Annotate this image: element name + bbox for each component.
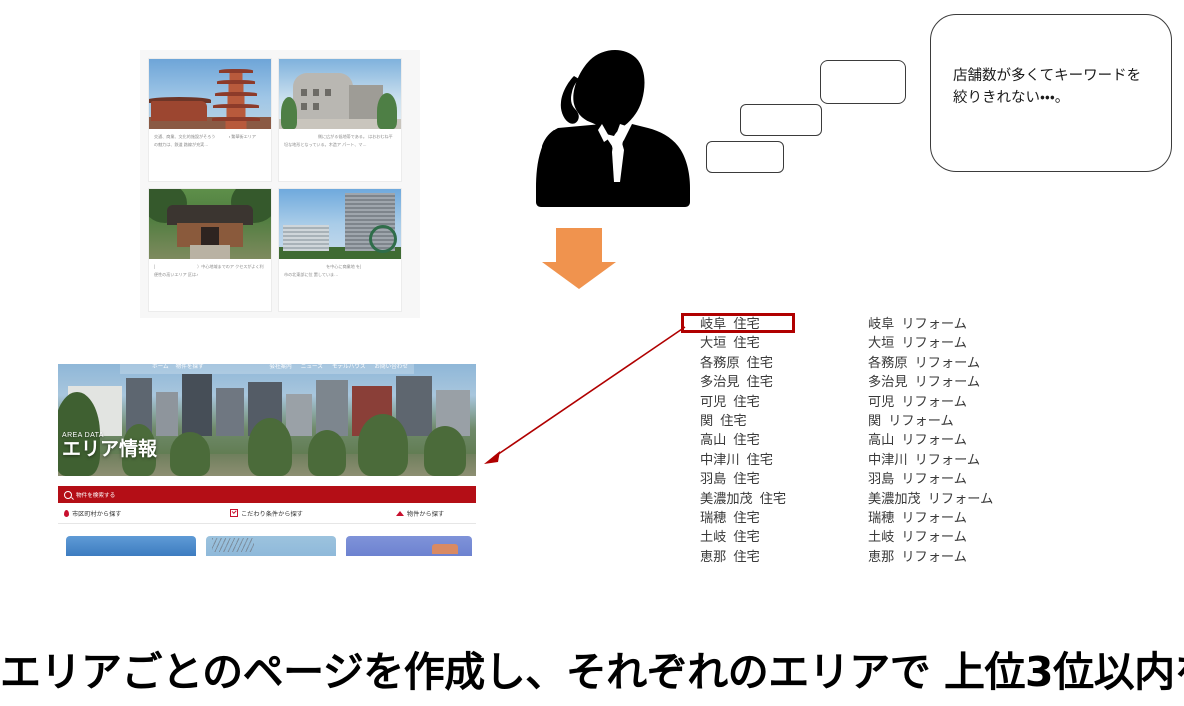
worried-businessman-silhouette xyxy=(528,42,698,208)
hero-eyebrow: AREA DATA xyxy=(62,432,157,439)
keyword-term: リフォーム xyxy=(901,394,967,409)
keyword-area: 岐阜 xyxy=(868,316,894,331)
article-card-body: 交通、商業、文化的施設がそろう ・ 繁華街エリア の魅力は、鉄道 路線が充実… xyxy=(149,129,271,148)
keyword-item: 多治見住宅 xyxy=(700,372,850,391)
keyword-item: 恵那住宅 xyxy=(700,547,850,566)
website-mockup[interactable]: AREA DATA エリア情報 ホーム 物件を探す 会社案内 ニュース モデルハ… xyxy=(58,358,476,556)
keyword-term: 住宅 xyxy=(720,413,746,428)
article-card[interactable]: | ）中心地域までのア クセスがよく利便性の高いエリア 区は♪ xyxy=(148,188,272,312)
thought-trail-bubble-small xyxy=(706,141,784,173)
keyword-item: 羽島住宅 xyxy=(700,469,850,488)
keyword-item: 高山住宅 xyxy=(700,430,850,449)
article-card-body: を中心に商業地 を| 市の北東部に位 置していま… xyxy=(279,259,401,278)
article-card[interactable]: 交通、商業、文化的施設がそろう ・ 繁華街エリア の魅力は、鉄道 路線が充実… xyxy=(148,58,272,182)
nav-item-contact[interactable]: お問い合わせ xyxy=(374,362,408,370)
filter-municipality[interactable]: 市区町村から探す xyxy=(64,509,122,518)
keyword-column-right: 岐阜リフォーム大垣リフォーム各務原リフォーム多治見リフォーム可児リフォーム関リフ… xyxy=(868,314,1038,566)
keyword-item: 関住宅 xyxy=(700,411,850,430)
keyword-area: 関 xyxy=(868,413,881,428)
keyword-term: リフォーム xyxy=(915,355,981,370)
keyword-area: 中津川 xyxy=(700,452,740,467)
keyword-term: 住宅 xyxy=(733,510,759,525)
site-navbar: ホーム 物件を探す 会社案内 ニュース モデルハウス お問い合わせ xyxy=(120,358,414,374)
keyword-term: 住宅 xyxy=(733,394,759,409)
keyword-area: 中津川 xyxy=(868,452,908,467)
filter-property[interactable]: 物件から探す xyxy=(396,509,444,518)
red-connector-arrow xyxy=(470,305,710,480)
filter-label: こだわり条件から探す xyxy=(241,509,303,518)
nav-item-news[interactable]: ニュース xyxy=(301,362,323,370)
mock-content-card[interactable] xyxy=(206,536,336,556)
article-card-body: | ）中心地域までのア クセスがよく利便性の高いエリア 区は♪ xyxy=(149,259,271,278)
article-card-text: を中心に商業地 を| 市の北東部に位 置していま… xyxy=(284,263,396,278)
keyword-area: 羽島 xyxy=(700,471,726,486)
keyword-item: 羽島リフォーム xyxy=(868,469,1038,488)
keyword-item: 瑞穂住宅 xyxy=(700,508,850,527)
article-card-text: 交通、商業、文化的施設がそろう ・ 繁華街エリア の魅力は、鉄道 路線が充実… xyxy=(154,133,266,148)
search-band[interactable]: 物件を検索する xyxy=(58,486,476,503)
keyword-item: 多治見リフォーム xyxy=(868,372,1038,391)
keyword-area: 土岐 xyxy=(700,529,726,544)
article-card-grid: 交通、商業、文化的施設がそろう ・ 繁華街エリア の魅力は、鉄道 路線が充実… … xyxy=(140,50,420,318)
hero-label: AREA DATA エリア情報 xyxy=(62,432,157,461)
keyword-term: リフォーム xyxy=(901,316,967,331)
keyword-item: 可児リフォーム xyxy=(868,392,1038,411)
keyword-item: 美濃加茂住宅 xyxy=(700,489,850,508)
keyword-term: 住宅 xyxy=(747,452,773,467)
keyword-item: 高山リフォーム xyxy=(868,430,1038,449)
keyword-area: 恵那 xyxy=(868,549,894,564)
tower-photo xyxy=(279,189,401,259)
nav-item-company[interactable]: 会社案内 xyxy=(269,362,291,370)
nav-item-modelhouse[interactable]: モデルハウス xyxy=(332,362,366,370)
keyword-highlight-box xyxy=(681,313,795,333)
search-band-label: 物件を検索する xyxy=(76,491,115,499)
article-card-text: 側に広がる低地帯である。 はおおむね平坦な地形となっている。木造ア パート、マ… xyxy=(284,133,396,148)
keyword-area: 可児 xyxy=(700,394,726,409)
article-card-text: | ）中心地域までのア クセスがよく利便性の高いエリア 区は♪ xyxy=(154,263,266,278)
nav-item-search[interactable]: 物件を探す xyxy=(176,362,204,370)
modern-building-photo xyxy=(279,59,401,129)
article-card[interactable]: 側に広がる低地帯である。 はおおむね平坦な地形となっている。木造ア パート、マ… xyxy=(278,58,402,182)
keyword-item: 瑞穂リフォーム xyxy=(868,508,1038,527)
keyword-area: 恵那 xyxy=(700,549,726,564)
keyword-area: 大垣 xyxy=(868,335,894,350)
thought-trail-bubble-medium xyxy=(740,104,822,136)
keyword-term: リフォーム xyxy=(915,452,981,467)
filter-label: 物件から探す xyxy=(407,509,444,518)
home-icon xyxy=(396,511,404,516)
keyword-term: リフォーム xyxy=(901,529,967,544)
page-headline: エリアごとのページを作成し、それぞれのエリアで 上位3位以内をキープ xyxy=(0,638,1184,698)
keyword-area: 瑞穂 xyxy=(868,510,894,525)
keyword-item: 各務原住宅 xyxy=(700,353,850,372)
check-square-icon xyxy=(230,509,238,517)
keyword-item: 各務原リフォーム xyxy=(868,353,1038,372)
keyword-area: 羽島 xyxy=(868,471,894,486)
keyword-item: 関リフォーム xyxy=(868,411,1038,430)
keyword-term: リフォーム xyxy=(928,491,994,506)
thought-trail-bubble-large xyxy=(820,60,906,104)
keyword-area: 美濃加茂 xyxy=(868,491,921,506)
keyword-area: 各務原 xyxy=(868,355,908,370)
keyword-area: 瑞穂 xyxy=(700,510,726,525)
keyword-term: 住宅 xyxy=(733,335,759,350)
article-card-body: 側に広がる低地帯である。 はおおむね平坦な地形となっている。木造ア パート、マ… xyxy=(279,129,401,148)
pagoda-photo xyxy=(149,59,271,129)
article-card[interactable]: を中心に商業地 を| 市の北東部に位 置していま… xyxy=(278,188,402,312)
keyword-item: 大垣住宅 xyxy=(700,333,850,352)
keyword-column-left: 岐阜住宅大垣住宅各務原住宅多治見住宅可児住宅関住宅高山住宅中津川住宅羽島住宅美濃… xyxy=(700,314,850,566)
keyword-term: リフォーム xyxy=(901,510,967,525)
keyword-area: 土岐 xyxy=(868,529,894,544)
shrine-photo xyxy=(149,189,271,259)
keyword-item: 美濃加茂リフォーム xyxy=(868,489,1038,508)
keyword-item: 岐阜リフォーム xyxy=(868,314,1038,333)
keyword-term: 住宅 xyxy=(760,491,786,506)
nav-item-home[interactable]: ホーム xyxy=(152,362,169,370)
map-pin-icon xyxy=(64,510,69,517)
speech-bubble-text: 店舗数が多くてキーワードを 絞りきれない・・・。 xyxy=(953,65,1157,110)
keyword-area: 高山 xyxy=(700,432,726,447)
keyword-term: 住宅 xyxy=(747,355,773,370)
keyword-term: リフォーム xyxy=(901,549,967,564)
keyword-area: 大垣 xyxy=(700,335,726,350)
keyword-term: リフォーム xyxy=(901,471,967,486)
navbar-right-group: 会社案内 ニュース モデルハウス お問い合わせ xyxy=(269,362,408,370)
hero-banner: AREA DATA エリア情報 xyxy=(58,364,476,476)
keyword-term: 住宅 xyxy=(733,549,759,564)
keyword-item: 大垣リフォーム xyxy=(868,333,1038,352)
filter-row: 市区町村から探す こだわり条件から探す 物件から探す xyxy=(58,503,476,524)
speech-bubble: 店舗数が多くてキーワードを 絞りきれない・・・。 xyxy=(930,14,1172,172)
keyword-term: 住宅 xyxy=(733,471,759,486)
keyword-area: 各務原 xyxy=(700,355,740,370)
keyword-term: リフォーム xyxy=(888,413,954,428)
filter-label: 市区町村から探す xyxy=(72,509,122,518)
keyword-item: 中津川リフォーム xyxy=(868,450,1038,469)
keyword-term: リフォーム xyxy=(901,335,967,350)
keyword-term: リフォーム xyxy=(915,374,981,389)
keyword-term: リフォーム xyxy=(901,432,967,447)
search-icon xyxy=(64,491,72,499)
hero-title: エリア情報 xyxy=(62,439,157,461)
keyword-area: 関 xyxy=(700,413,713,428)
keyword-item: 土岐住宅 xyxy=(700,527,850,546)
keyword-item: 中津川住宅 xyxy=(700,450,850,469)
keyword-item: 恵那リフォーム xyxy=(868,547,1038,566)
mock-content-card[interactable] xyxy=(66,536,196,556)
keyword-area: 多治見 xyxy=(700,374,740,389)
keyword-area: 高山 xyxy=(868,432,894,447)
navbar-left-group: ホーム 物件を探す xyxy=(152,362,204,370)
keyword-item: 土岐リフォーム xyxy=(868,527,1038,546)
keyword-item: 可児住宅 xyxy=(700,392,850,411)
keyword-area: 可児 xyxy=(868,394,894,409)
keyword-term: 住宅 xyxy=(747,374,773,389)
filter-conditions[interactable]: こだわり条件から探す xyxy=(230,509,303,518)
mock-content-card[interactable] xyxy=(346,536,472,556)
down-arrow-icon xyxy=(542,228,640,290)
keyword-term: 住宅 xyxy=(733,529,759,544)
keyword-area: 多治見 xyxy=(868,374,908,389)
keyword-area: 美濃加茂 xyxy=(700,491,753,506)
keyword-term: 住宅 xyxy=(733,432,759,447)
